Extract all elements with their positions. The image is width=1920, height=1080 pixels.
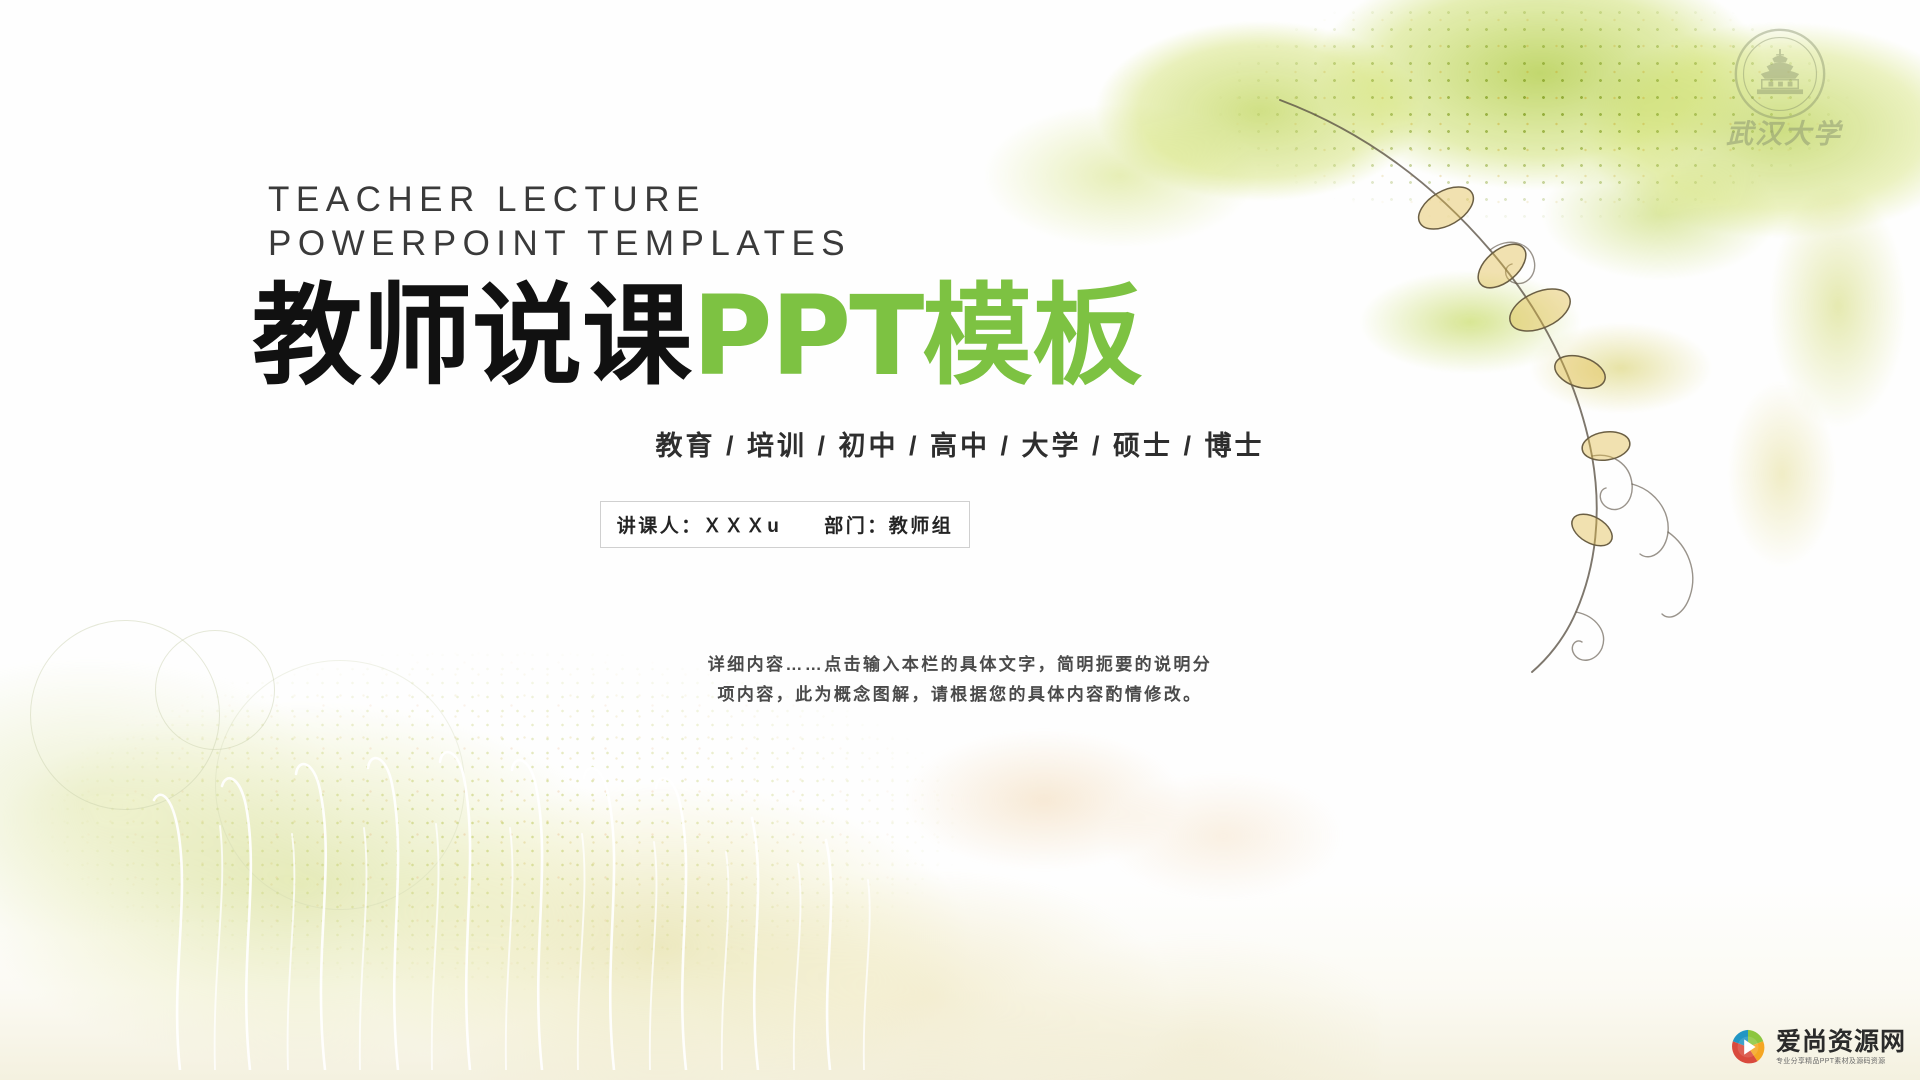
- description-line-1: 详细内容……点击输入本栏的具体文字，简明扼要的说明分: [0, 650, 1920, 680]
- tagline: 教育 / 培训 / 初中 / 高中 / 大学 / 硕士 / 博士: [0, 424, 1920, 463]
- main-title-green-cn: 模板: [922, 272, 1142, 400]
- speaker-info-box: 讲课人：ＸＸＸu 部门：教师组: [600, 501, 970, 548]
- play-button-icon: [1729, 1028, 1767, 1066]
- description-line-2: 项内容，此为概念图解，请根据您的具体内容酌情修改。: [0, 680, 1920, 710]
- page-title: 教师说课PPT模板: [252, 282, 1142, 390]
- speaker-info-text: 讲课人：ＸＸＸu 部门：教师组: [617, 511, 954, 538]
- english-title: TEACHER LECTUREPOWERPOINT TEMPLATES: [268, 178, 851, 266]
- watermark-site-name: 爱尚资源网: [1776, 1029, 1906, 1054]
- english-title-line2: POWERPOINT TEMPLATES: [268, 224, 851, 263]
- description-block: 详细内容……点击输入本栏的具体文字，简明扼要的说明分 项内容，此为概念图解，请根…: [0, 650, 1920, 710]
- slide-canvas: 武汉大学 TEACHER LECTUREPOWERPOINT TEMPLATES…: [0, 0, 1920, 1080]
- site-watermark: 爱尚资源网 专业分享精品PPT素材及源码资源: [1729, 1028, 1906, 1066]
- main-title-green-latin: PPT: [692, 272, 922, 400]
- watermark-tagline: 专业分享精品PPT素材及源码资源: [1776, 1058, 1906, 1065]
- english-title-line1: TEACHER LECTURE: [268, 180, 706, 219]
- main-title-black: 教师说课: [252, 272, 692, 400]
